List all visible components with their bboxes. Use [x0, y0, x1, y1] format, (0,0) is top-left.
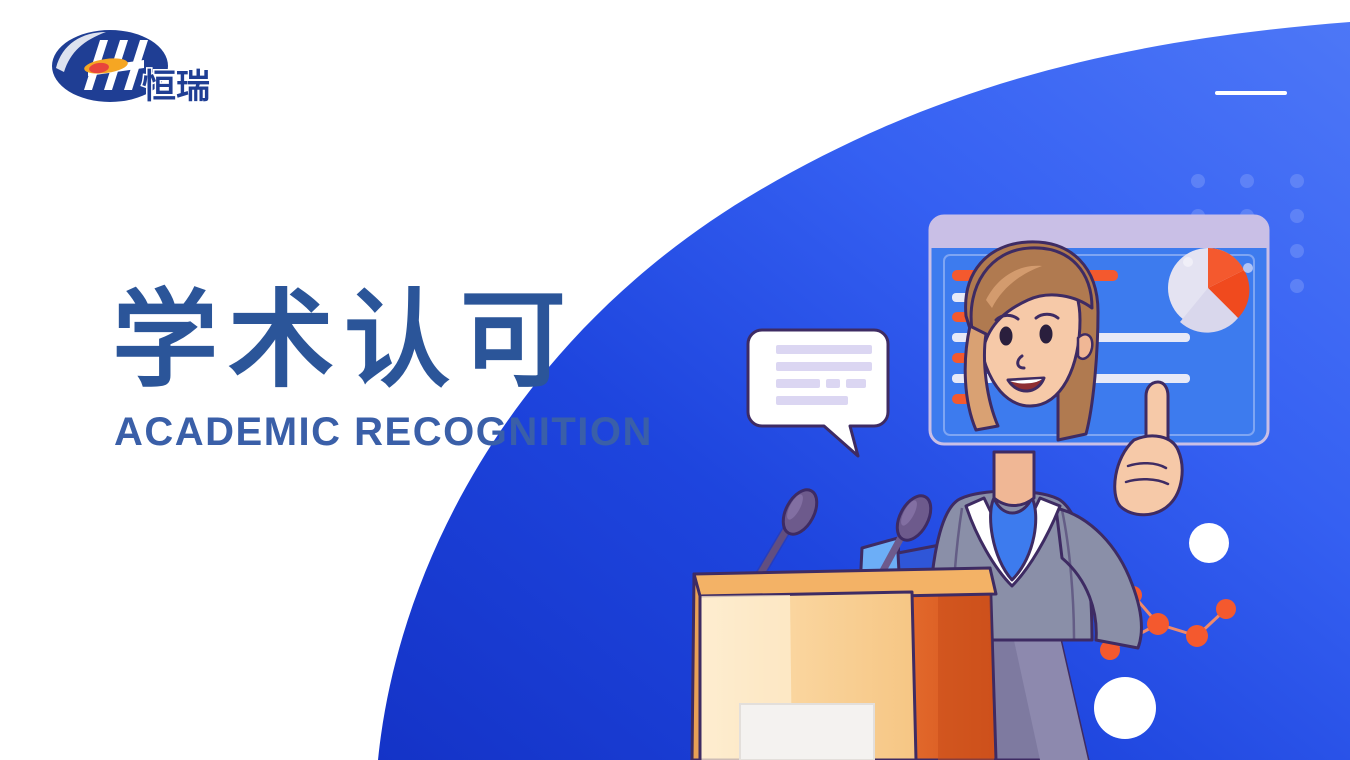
slide-canvas: 恒瑞 学术认可 ACADEMIC RECOGNITION [0, 0, 1350, 760]
page-subtitle: ACADEMIC RECOGNITION [114, 410, 732, 455]
white-accent-line [1215, 91, 1287, 95]
page-title: 学术认可 [112, 288, 732, 394]
logo-brand-text: 恒瑞 [142, 67, 210, 107]
white-circle-small [1189, 523, 1229, 563]
white-circle-large [1094, 677, 1156, 739]
hengrui-logo[interactable]: 恒瑞 [48, 24, 218, 114]
headline-block: 学术认可 ACADEMIC RECOGNITION [112, 288, 732, 455]
white-dot-tiny [1111, 608, 1116, 613]
